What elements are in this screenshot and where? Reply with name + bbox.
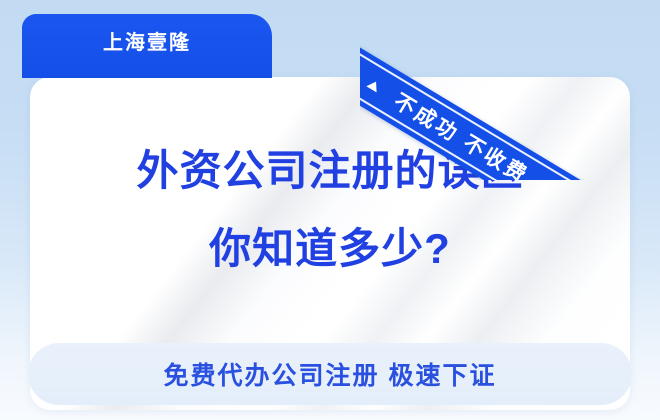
headline-line-1: 外资公司注册的误区 — [0, 140, 660, 202]
promo-poster: 上海壹隆 不成功 不收费 外资公司注册的误区 你知道多少? 免费代办公司注册 极… — [0, 0, 660, 420]
brand-tab[interactable]: 上海壹隆 — [22, 14, 272, 78]
brand-tab-label: 上海壹隆 — [103, 33, 191, 59]
headline-line-2: 你知道多少? — [0, 218, 660, 280]
footer-cta-label: 免费代办公司注册 极速下证 — [164, 356, 497, 392]
footer-cta-pill[interactable]: 免费代办公司注册 极速下证 — [28, 343, 632, 405]
headline-block: 外资公司注册的误区 你知道多少? — [0, 140, 660, 280]
